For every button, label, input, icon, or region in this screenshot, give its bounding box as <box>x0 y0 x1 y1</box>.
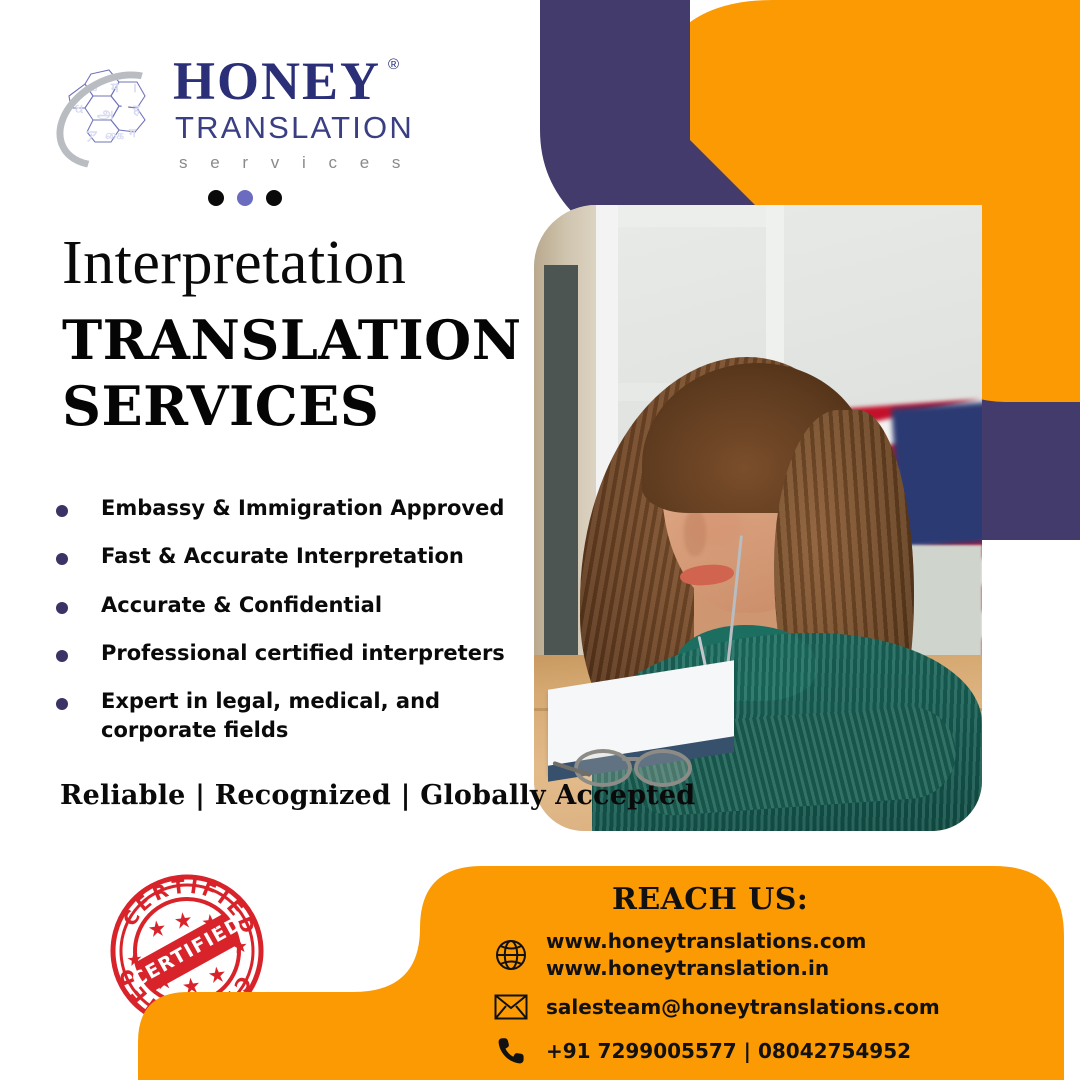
contact-website-text: www.honeytranslations.com www.honeytrans… <box>546 928 866 982</box>
website-line-2[interactable]: www.honeytranslation.in <box>546 955 866 982</box>
bullet-dot-icon <box>56 698 68 710</box>
list-item: Fast & Accurate Interpretation <box>56 542 526 570</box>
headline-script: Interpretation <box>62 232 406 294</box>
contact-heading: REACH US: <box>612 882 808 917</box>
photo-person-nose <box>684 510 706 556</box>
list-item: Accurate & Confidential <box>56 591 526 619</box>
registered-trademark-icon: ® <box>388 56 399 73</box>
headline-main-line-1: TRANSLATION <box>62 308 522 374</box>
contact-email-text[interactable]: salesteam@honeytranslations.com <box>546 994 940 1021</box>
list-item: Professional certified interpreters <box>56 639 526 667</box>
contact-website-row[interactable]: www.honeytranslations.com www.honeytrans… <box>492 928 866 982</box>
bullet-dot-icon <box>56 602 68 614</box>
photo-eyeglass-bridge <box>622 757 640 761</box>
list-item-label: Fast & Accurate Interpretation <box>101 542 464 570</box>
bullet-dot-icon <box>56 505 68 517</box>
list-item-label: Embassy & Immigration Approved <box>101 494 504 522</box>
interpreter-photo <box>534 205 982 831</box>
bullet-dot-icon <box>56 553 68 565</box>
photo-eyeglasses <box>574 745 706 783</box>
contact-email-row[interactable]: salesteam@honeytranslations.com <box>492 988 940 1026</box>
envelope-icon <box>492 988 530 1026</box>
list-item-label: Expert in legal, medical, and corporate … <box>101 687 441 744</box>
phone-icon <box>492 1032 530 1070</box>
features-list: Embassy & Immigration Approved Fast & Ac… <box>56 494 526 764</box>
photo-shelf-dark <box>544 265 578 665</box>
dot-1 <box>208 190 224 206</box>
dot-2 <box>237 190 253 206</box>
list-item: Embassy & Immigration Approved <box>56 494 526 522</box>
bullet-dot-icon <box>56 650 68 662</box>
list-item-label: Professional certified interpreters <box>101 639 505 667</box>
contact-phone-row[interactable]: +91 7299005577 | 08042754952 <box>492 1032 911 1070</box>
logo-name-tertiary: s e r v i c e s <box>179 154 409 171</box>
headline-main-line-2: SERVICES <box>62 374 522 440</box>
brand-logo[interactable]: க म । ઘ அ ह ア கை ग A HONEY ® TRANSLATION… <box>55 50 415 175</box>
globe-orbit-ring <box>40 52 191 188</box>
headline-main: TRANSLATION SERVICES <box>62 308 522 440</box>
contact-phone-text[interactable]: +91 7299005577 | 08042754952 <box>546 1038 911 1065</box>
logo-name-primary: HONEY <box>173 54 381 108</box>
logo-name-secondary: TRANSLATION <box>175 112 414 143</box>
photo-shelf-frame <box>618 205 778 227</box>
tagline: Reliable | Recognized | Globally Accepte… <box>60 780 695 811</box>
decorative-dots <box>208 190 282 206</box>
globe-languages-icon: க म । ઘ அ ह ア கை ग A <box>55 58 159 162</box>
poster-canvas: க म । ઘ அ ह ア கை ग A HONEY ® TRANSLATION… <box>0 0 1080 1080</box>
website-line-1[interactable]: www.honeytranslations.com <box>546 928 866 955</box>
list-item-label: Accurate & Confidential <box>101 591 382 619</box>
dot-3 <box>266 190 282 206</box>
globe-icon <box>492 936 530 974</box>
list-item: Expert in legal, medical, and corporate … <box>56 687 526 744</box>
